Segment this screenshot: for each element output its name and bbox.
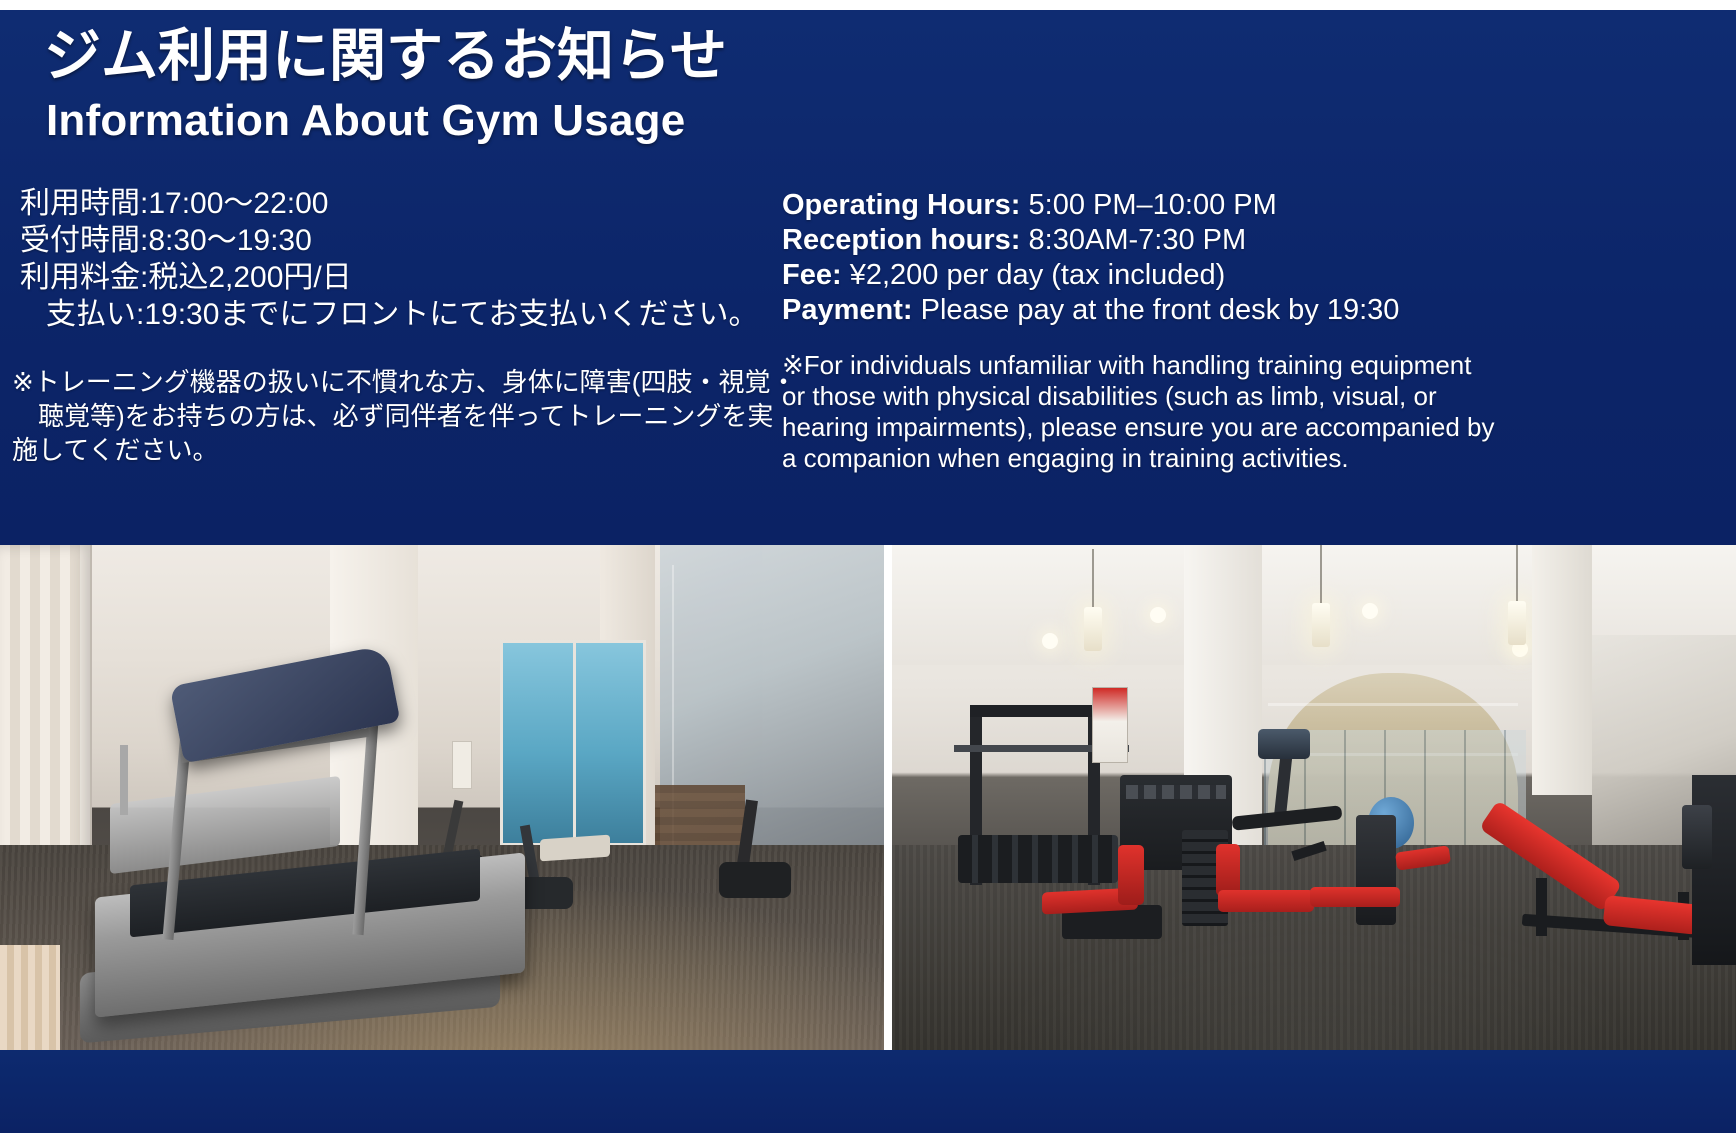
pendant-lamp-3 bbox=[1508, 601, 1526, 645]
bench-backpad bbox=[1479, 800, 1622, 912]
information-panel: ジム利用に関するお知らせ Information About Gym Usage… bbox=[0, 10, 1736, 545]
machine-2-backrest bbox=[1216, 844, 1240, 896]
en-payment-row: Payment: Please pay at the front desk by… bbox=[782, 293, 1722, 328]
english-details-column: Operating Hours: 5:00 PM–10:00 PM Recept… bbox=[782, 188, 1722, 328]
jp-payment-line: 支払い:19:30までにフロントにてお支払いください。 bbox=[20, 296, 780, 333]
incline-bench bbox=[1492, 800, 1702, 975]
wall-poster bbox=[452, 741, 472, 789]
en-note-line-1: ※For individuals unfamiliar with handlin… bbox=[782, 350, 1717, 381]
en-operating-hours-label: Operating Hours: bbox=[782, 189, 1020, 221]
en-operating-hours-value: 5:00 PM–10:00 PM bbox=[1029, 189, 1277, 221]
machine-1-backrest bbox=[1118, 845, 1144, 905]
ceiling-spotlight-3 bbox=[1362, 603, 1378, 619]
curtain-lower bbox=[0, 945, 60, 1050]
jp-note-line-2: 聴覚等)をお持ちの方は、必ず同伴者を伴ってトレーニングを実 bbox=[12, 399, 787, 433]
page-title-english: Information About Gym Usage bbox=[46, 96, 685, 146]
en-fee-row: Fee: ¥2,200 per day (tax included) bbox=[782, 258, 1722, 293]
gym-usage-notice-poster: ジム利用に関するお知らせ Information About Gym Usage… bbox=[0, 0, 1736, 1133]
en-note-line-2: or those with physical disabilities (suc… bbox=[782, 381, 1717, 412]
jp-note-line-1: ※トレーニング機器の扱いに不慣れな方、身体に障害(四肢・視覚・ bbox=[12, 365, 787, 399]
machine-3-pad bbox=[1395, 845, 1451, 870]
photo-band bbox=[0, 545, 1736, 1050]
exercise-bike-3 bbox=[715, 800, 795, 910]
en-note-line-4: a companion when engaging in training ac… bbox=[782, 443, 1717, 474]
japanese-disclaimer-note: ※トレーニング機器の扱いに不慣れな方、身体に障害(四肢・視覚・ 聴覚等)をお持ち… bbox=[12, 365, 787, 467]
top-white-strip bbox=[0, 0, 1736, 10]
en-payment-label: Payment: bbox=[782, 294, 913, 326]
photo-divider bbox=[884, 545, 892, 1050]
page-title-japanese: ジム利用に関するお知らせ bbox=[44, 24, 727, 88]
weights-room-photo bbox=[892, 545, 1736, 1050]
en-reception-hours-label: Reception hours: bbox=[782, 224, 1020, 256]
pendant-lamp-1 bbox=[1084, 607, 1102, 651]
jp-reception-hours-line: 受付時間:8:30〜19:30 bbox=[20, 222, 780, 259]
english-disclaimer-note: ※For individuals unfamiliar with handlin… bbox=[782, 350, 1717, 474]
ceiling-spotlight-2 bbox=[1150, 607, 1166, 623]
bottom-navy-bar bbox=[0, 1050, 1736, 1133]
cardio-room-photo bbox=[0, 545, 884, 1050]
en-note-line-3: hearing impairments), please ensure you … bbox=[782, 412, 1717, 443]
machine-3-tower bbox=[1356, 815, 1396, 925]
en-fee-value: ¥2,200 per day (tax included) bbox=[850, 259, 1226, 291]
en-fee-label: Fee: bbox=[782, 259, 842, 291]
elliptical-screen bbox=[1258, 729, 1310, 759]
en-payment-value: Please pay at the front desk by 19:30 bbox=[921, 294, 1400, 326]
pillar-right bbox=[1532, 545, 1592, 795]
wall-banner bbox=[1092, 687, 1128, 763]
en-operating-hours-row: Operating Hours: 5:00 PM–10:00 PM bbox=[782, 188, 1722, 223]
strength-machine-3 bbox=[1300, 815, 1460, 940]
strength-machine-1 bbox=[1042, 845, 1172, 935]
jp-operating-hours-line: 利用時間:17:00〜22:00 bbox=[20, 185, 780, 222]
en-reception-hours-value: 8:30AM-7:30 PM bbox=[1029, 224, 1247, 256]
squat-rack-top bbox=[970, 705, 1110, 717]
blue-window bbox=[500, 640, 646, 846]
jp-note-line-3: 施してください。 bbox=[12, 433, 787, 467]
en-reception-hours-row: Reception hours: 8:30AM-7:30 PM bbox=[782, 223, 1722, 258]
treadmill-secondary-post bbox=[120, 745, 128, 815]
ceiling-spotlight-1 bbox=[1042, 633, 1058, 649]
pendant-lamp-2 bbox=[1312, 603, 1330, 647]
side-machine bbox=[1692, 775, 1736, 965]
jp-fee-line: 利用料金:税込2,200円/日 bbox=[20, 259, 780, 296]
bench-leg-front bbox=[1536, 878, 1547, 936]
machine-3-seat bbox=[1310, 887, 1400, 907]
japanese-details-column: 利用時間:17:00〜22:00 受付時間:8:30〜19:30 利用料金:税込… bbox=[20, 185, 780, 333]
